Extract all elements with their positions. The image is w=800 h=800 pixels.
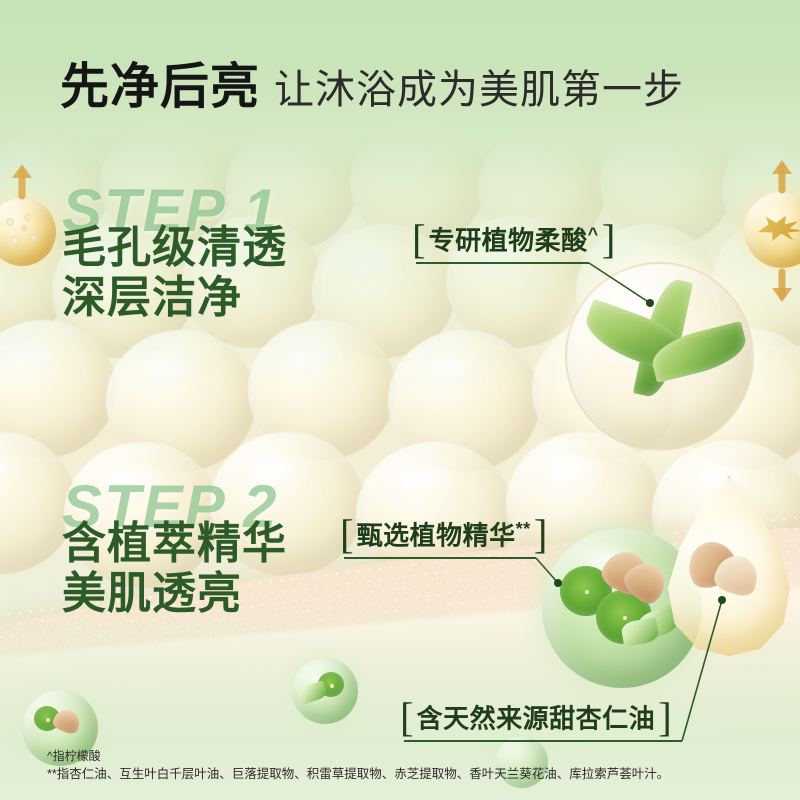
promo-poster: 先净后亮 让沐浴成为美肌第一步 STEP 1 毛孔级清透 深层洁净 STEP 2… <box>0 0 800 800</box>
step-2-line-1: 含植萃精华 <box>62 519 287 569</box>
callout-1: [ 专研植物柔酸^ ] <box>412 219 615 260</box>
leaf-bubble <box>565 262 754 451</box>
step-2-block: STEP 2 含植萃精华 美肌透亮 <box>62 478 287 618</box>
callout-2-label: 甄选植物精华 <box>357 521 516 551</box>
callout-2-marker: ** <box>516 519 531 539</box>
callout-1-marker: ^ <box>588 224 599 244</box>
step-2-line-2: 美肌透亮 <box>62 569 287 619</box>
callout-1-text: 专研植物柔酸^ <box>426 225 602 254</box>
callout-1-label: 专研植物柔酸 <box>429 226 588 256</box>
footnote-2: **指杏仁油、互生叶白千层叶油、巨落提取物、积雷草提取物、赤芝提取物、香叶天兰葵… <box>47 765 669 784</box>
bracket-left: [ <box>340 514 354 555</box>
aloe-icon <box>298 680 328 704</box>
bracket-right: ] <box>658 697 672 738</box>
step-1-block: STEP 1 毛孔级清透 深层洁净 <box>62 182 287 322</box>
headline-sub: 让沐浴成为美肌第一步 <box>274 70 684 112</box>
bracket-left: [ <box>400 697 414 738</box>
bracket-right: ] <box>534 514 548 555</box>
callout-2-text: 甄选植物精华** <box>354 520 534 549</box>
callout-3: [ 含天然来源甜杏仁油 ] <box>400 697 672 738</box>
footnote-1: ^指柠檬酸 <box>47 748 669 765</box>
callout-3-text: 含天然来源甜杏仁油 <box>414 703 659 732</box>
bracket-left: [ <box>412 219 426 260</box>
footnotes: ^指柠檬酸 **指杏仁油、互生叶白千层叶油、巨落提取物、积雷草提取物、赤芝提取物… <box>47 748 669 784</box>
bracket-right: ] <box>602 219 616 260</box>
callout-2: [ 甄选植物精华** ] <box>340 514 547 555</box>
headline-strong: 先净后亮 <box>60 63 260 112</box>
callout-3-label: 含天然来源甜杏仁油 <box>417 704 656 734</box>
headline: 先净后亮 让沐浴成为美肌第一步 <box>60 63 684 112</box>
step-1-line-2: 深层洁净 <box>62 273 287 323</box>
step-1-line-1: 毛孔级清透 <box>62 223 287 273</box>
mini-gel-bubble <box>292 658 358 724</box>
